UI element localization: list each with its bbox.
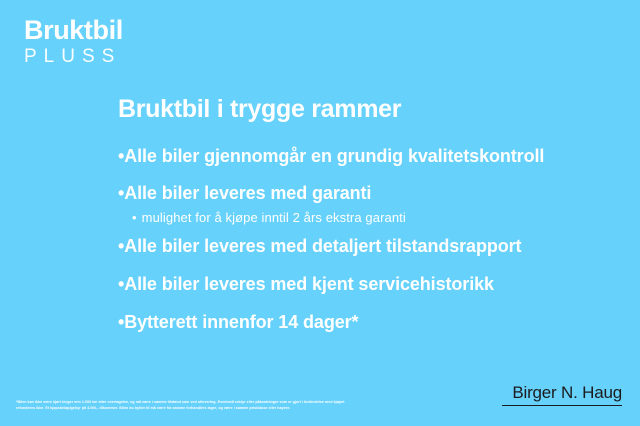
footnote-text: *Bilen kan ikke være kjørt lenger enn 1.… xyxy=(16,399,354,412)
sub-bullet-dot-icon: • xyxy=(132,210,142,225)
benefit-item-lead: Alle biler leveres med xyxy=(124,183,312,203)
benefit-sub-item: •mulighet for å kjøpe inntil 2 års ekstr… xyxy=(132,210,588,226)
dealer-logo: Birger N. Haug xyxy=(502,383,622,406)
benefit-item-emphasis: garanti xyxy=(312,183,371,203)
dealer-name: Birger N. Haug xyxy=(502,383,622,405)
page-title: Bruktbil i trygge rammer xyxy=(118,96,588,124)
benefit-item-emphasis: tilstandsrapport xyxy=(386,236,521,256)
benefit-item-emphasis: kjent servicehistorikk xyxy=(312,274,494,294)
dealer-underline xyxy=(502,405,622,407)
benefit-item-lead: Alle biler gjennomgår en grundig xyxy=(124,146,408,166)
benefit-item: •Alle biler leveres med detaljert tilsta… xyxy=(118,236,588,257)
benefit-item: •Alle biler leveres med kjent servicehis… xyxy=(118,274,588,295)
benefit-item: •Alle biler leveres med garanti•mulighet… xyxy=(118,183,588,225)
benefit-item-lead: Alle biler leveres med detaljert xyxy=(124,236,386,256)
benefit-list: •Alle biler gjennomgår en grundig kvalit… xyxy=(118,146,588,333)
benefit-item: •Alle biler gjennomgår en grundig kvalit… xyxy=(118,146,588,167)
benefit-item-emphasis: Bytterett innenfor 14 dager* xyxy=(124,312,358,332)
brand-suffix: PLUSS xyxy=(24,47,123,66)
benefit-sub-list: •mulighet for å kjøpe inntil 2 års ekstr… xyxy=(118,210,588,226)
benefit-sub-item-label: mulighet for å kjøpe inntil 2 års ekstra… xyxy=(142,210,406,225)
brand-logo: Bruktbil PLUSS xyxy=(24,17,123,66)
benefit-item-emphasis: kvalitetskontroll xyxy=(408,146,544,166)
benefit-item-lead: Alle biler leveres med xyxy=(124,274,312,294)
brand-name: Bruktbil xyxy=(24,17,123,44)
slide-content: Bruktbil i trygge rammer •Alle biler gje… xyxy=(118,96,588,333)
benefit-item: •Bytterett innenfor 14 dager* xyxy=(118,312,588,333)
